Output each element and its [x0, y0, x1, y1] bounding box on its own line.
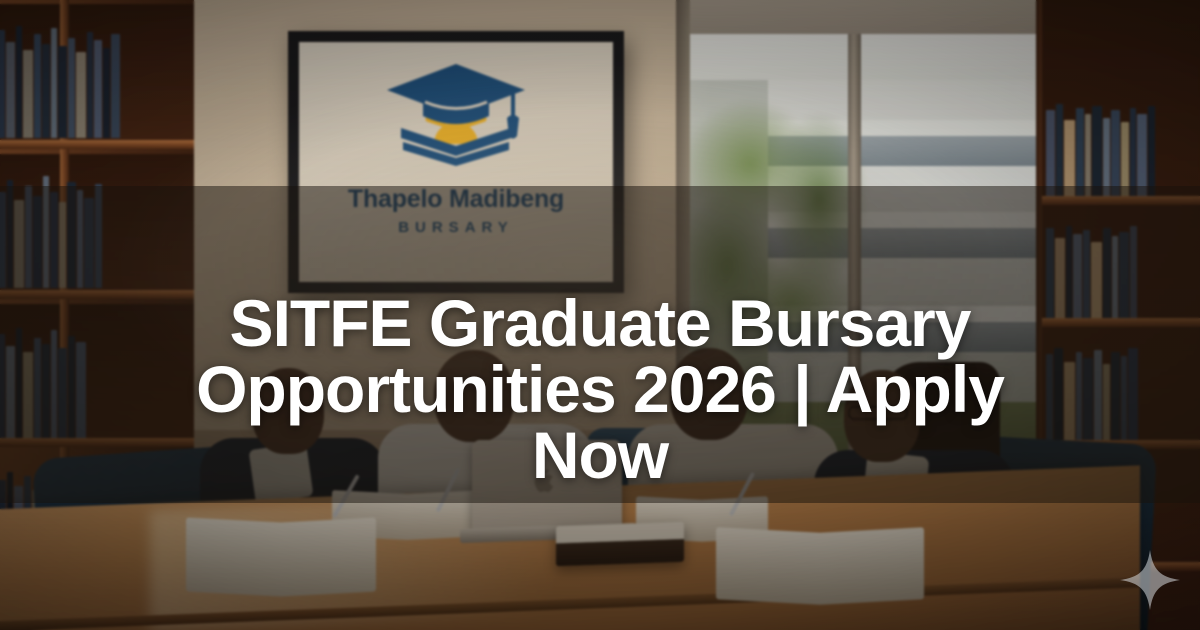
hero-banner: Thapelo Madibeng BURSARY: [0, 0, 1200, 630]
window-sky: [676, 34, 1066, 80]
window-blind: [676, 0, 1066, 34]
shelf-plank: [0, 140, 194, 149]
shelf-books-row: [1042, 100, 1200, 198]
page-title: SITFE Graduate Bursary Opportunities 202…: [0, 230, 1200, 547]
graduation-cap-sunburst-book-icon: [381, 60, 531, 176]
ai-sparkle-watermark: [1118, 548, 1182, 612]
shelf-books-row: [0, 18, 194, 138]
